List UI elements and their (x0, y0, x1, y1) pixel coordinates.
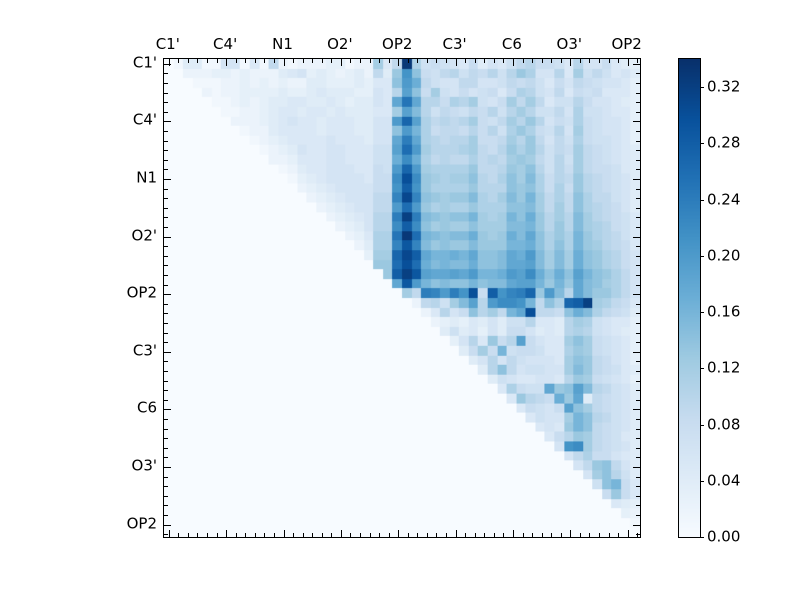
axis-tick-major (164, 409, 171, 410)
axis-tick-minor (350, 533, 351, 537)
xaxis-tick-label: C1' (156, 37, 180, 52)
axis-tick-minor (164, 304, 168, 305)
axis-tick-major (164, 121, 171, 122)
axis-tick-minor (636, 477, 640, 478)
axis-tick-minor (503, 59, 504, 63)
axis-tick-minor (164, 112, 168, 113)
axis-tick-minor (312, 59, 313, 63)
axis-tick-minor (389, 59, 390, 63)
axis-tick-major (226, 59, 227, 66)
axis-tick-minor (523, 59, 524, 63)
colorbar-tick (700, 368, 704, 369)
axis-tick-minor (217, 59, 218, 63)
colorbar-tick-label: 0.20 (707, 248, 740, 263)
axis-tick-minor (636, 189, 640, 190)
axis-tick-major (633, 467, 640, 468)
axis-tick-minor (245, 59, 246, 63)
axis-tick-minor (303, 533, 304, 537)
axis-tick-major (633, 237, 640, 238)
xaxis-tick-label: O3' (557, 37, 582, 52)
colorbar-tick-label: 0.08 (707, 417, 740, 432)
axis-tick-major (284, 59, 285, 66)
axis-tick-minor (636, 169, 640, 170)
colorbar-tick (700, 312, 704, 313)
figure-canvas: C1'C4'N1O2'OP2C3'C6O3'OP2 C1'C4'N1O2'OP2… (0, 0, 800, 600)
axis-tick-minor (389, 533, 390, 537)
axis-tick-minor (484, 59, 485, 63)
axis-tick-minor (636, 112, 640, 113)
axis-tick-minor (589, 59, 590, 63)
axis-tick-minor (446, 533, 447, 537)
axis-tick-minor (408, 59, 409, 63)
axis-tick-major (164, 64, 171, 65)
xaxis-tick-label: N1 (272, 37, 293, 52)
axis-tick-minor (312, 533, 313, 537)
colorbar-tick-label: 0.28 (707, 136, 740, 151)
axis-tick-minor (164, 275, 168, 276)
axis-tick-minor (164, 141, 168, 142)
axis-tick-major (164, 467, 171, 468)
axis-tick-minor (322, 533, 323, 537)
axis-tick-minor (580, 59, 581, 63)
axis-tick-minor (551, 533, 552, 537)
axis-tick-major (164, 352, 171, 353)
axis-tick-minor (164, 371, 168, 372)
xaxis-tick-label: C6 (502, 37, 522, 52)
axis-tick-major (341, 59, 342, 66)
axis-tick-major (628, 530, 629, 537)
axis-tick-minor (427, 59, 428, 63)
axis-tick-minor (636, 208, 640, 209)
axis-tick-minor (236, 533, 237, 537)
axis-tick-minor (293, 59, 294, 63)
axis-tick-minor (255, 59, 256, 63)
axis-tick-minor (636, 438, 640, 439)
axis-tick-minor (164, 160, 168, 161)
yaxis-tick-label: O2' (110, 228, 157, 243)
axis-tick-minor (331, 533, 332, 537)
axis-tick-minor (217, 533, 218, 537)
axis-tick-minor (532, 59, 533, 63)
axis-tick-minor (164, 189, 168, 190)
axis-tick-minor (164, 131, 168, 132)
axis-tick-minor (164, 150, 168, 151)
axis-tick-minor (618, 59, 619, 63)
axis-tick-major (169, 530, 170, 537)
axis-tick-minor (636, 429, 640, 430)
axis-tick-minor (188, 59, 189, 63)
axis-tick-minor (542, 59, 543, 63)
axis-tick-minor (446, 59, 447, 63)
axis-tick-minor (274, 59, 275, 63)
axis-tick-minor (636, 534, 640, 535)
axis-tick-minor (636, 150, 640, 151)
colorbar-tick (700, 143, 704, 144)
axis-tick-minor (417, 533, 418, 537)
axis-tick-major (633, 179, 640, 180)
axis-tick-minor (580, 533, 581, 537)
axis-tick-minor (427, 533, 428, 537)
axis-tick-major (284, 530, 285, 537)
axis-tick-minor (636, 361, 640, 362)
colorbar-tick-label: 0.24 (707, 192, 740, 207)
axis-tick-minor (164, 429, 168, 430)
axis-tick-major (164, 237, 171, 238)
axis-tick-minor (164, 285, 168, 286)
axis-tick-major (633, 352, 640, 353)
axis-tick-minor (561, 533, 562, 537)
axis-tick-minor (636, 198, 640, 199)
axis-tick-major (633, 121, 640, 122)
axis-tick-minor (379, 59, 380, 63)
axis-tick-minor (636, 381, 640, 382)
axis-tick-major (633, 409, 640, 410)
axis-tick-minor (636, 73, 640, 74)
colorbar-tick-label: 0.16 (707, 305, 740, 320)
axis-tick-minor (164, 217, 168, 218)
axis-tick-minor (164, 265, 168, 266)
axis-tick-minor (360, 59, 361, 63)
axis-tick-minor (255, 533, 256, 537)
axis-tick-major (164, 525, 171, 526)
colorbar-tick (700, 87, 704, 88)
axis-tick-minor (197, 59, 198, 63)
axis-tick-minor (561, 59, 562, 63)
colorbar-tick-label: 0.32 (707, 80, 740, 95)
axis-tick-minor (609, 59, 610, 63)
colorbar-tick-label: 0.04 (707, 473, 740, 488)
axis-tick-minor (475, 59, 476, 63)
yaxis-tick-label: OP2 (110, 286, 157, 301)
axis-tick-major (633, 294, 640, 295)
xaxis-tick-label: C3' (443, 37, 467, 52)
axis-tick-minor (484, 533, 485, 537)
axis-tick-minor (164, 448, 168, 449)
axis-tick-minor (164, 361, 168, 362)
colorbar-tick-label: 0.00 (707, 530, 740, 545)
axis-tick-minor (245, 533, 246, 537)
axis-tick-minor (636, 515, 640, 516)
axis-tick-minor (303, 59, 304, 63)
axis-tick-minor (164, 486, 168, 487)
axis-tick-minor (636, 486, 640, 487)
yaxis-tick-label: OP2 (110, 516, 157, 531)
axis-tick-minor (589, 533, 590, 537)
axis-tick-minor (188, 533, 189, 537)
axis-tick-minor (636, 83, 640, 84)
axis-tick-minor (164, 505, 168, 506)
axis-tick-minor (207, 533, 208, 537)
axis-tick-minor (370, 533, 371, 537)
axis-tick-minor (599, 59, 600, 63)
colorbar-tick (700, 200, 704, 201)
axis-tick-minor (178, 533, 179, 537)
axis-tick-major (398, 530, 399, 537)
yaxis-tick-label: C1' (110, 55, 157, 70)
axis-tick-minor (636, 313, 640, 314)
axis-tick-minor (370, 59, 371, 63)
axis-tick-minor (274, 533, 275, 537)
axis-tick-minor (164, 198, 168, 199)
axis-tick-minor (542, 533, 543, 537)
axis-tick-major (633, 64, 640, 65)
axis-tick-minor (636, 457, 640, 458)
axis-tick-minor (436, 533, 437, 537)
axis-tick-minor (494, 533, 495, 537)
axis-tick-minor (618, 533, 619, 537)
axis-tick-minor (417, 59, 418, 63)
axis-tick-minor (523, 533, 524, 537)
axis-tick-minor (503, 533, 504, 537)
axis-tick-major (513, 530, 514, 537)
yaxis-tick-label: N1 (110, 171, 157, 186)
axis-tick-minor (636, 93, 640, 94)
axis-tick-major (456, 59, 457, 66)
xaxis-tick-label: O2' (327, 37, 352, 52)
axis-tick-minor (164, 477, 168, 478)
axis-tick-minor (636, 265, 640, 266)
axis-tick-minor (636, 102, 640, 103)
axis-tick-minor (264, 59, 265, 63)
axis-tick-minor (636, 333, 640, 334)
axis-tick-minor (164, 496, 168, 497)
axis-tick-minor (164, 438, 168, 439)
axis-tick-minor (164, 208, 168, 209)
axis-tick-minor (436, 59, 437, 63)
axis-tick-minor (164, 102, 168, 103)
axis-tick-major (628, 59, 629, 66)
axis-tick-minor (379, 533, 380, 537)
axis-tick-major (456, 530, 457, 537)
axis-tick-minor (599, 533, 600, 537)
xaxis-tick-label: C4' (213, 37, 237, 52)
yaxis-tick-label: C3' (110, 343, 157, 358)
axis-tick-minor (164, 390, 168, 391)
axis-tick-minor (636, 505, 640, 506)
axis-tick-minor (197, 533, 198, 537)
axis-tick-major (398, 59, 399, 66)
axis-tick-minor (164, 419, 168, 420)
axis-tick-minor (164, 381, 168, 382)
xaxis-tick-label: OP2 (611, 37, 641, 52)
colorbar (678, 58, 701, 538)
axis-tick-minor (164, 246, 168, 247)
axis-tick-minor (465, 59, 466, 63)
axis-tick-minor (551, 59, 552, 63)
heatmap-image (164, 59, 640, 537)
axis-tick-minor (636, 419, 640, 420)
axis-tick-major (513, 59, 514, 66)
axis-tick-minor (636, 342, 640, 343)
axis-tick-major (169, 59, 170, 66)
axis-tick-minor (636, 304, 640, 305)
axis-tick-minor (475, 533, 476, 537)
heatmap-axes (163, 58, 641, 538)
axis-tick-minor (636, 496, 640, 497)
yaxis-tick-label: C6 (110, 401, 157, 416)
axis-tick-major (164, 294, 171, 295)
axis-tick-minor (636, 141, 640, 142)
axis-tick-minor (293, 533, 294, 537)
yaxis-tick-label: O3' (110, 459, 157, 474)
axis-tick-minor (178, 59, 179, 63)
axis-tick-minor (264, 533, 265, 537)
axis-tick-minor (637, 59, 638, 63)
axis-tick-minor (636, 371, 640, 372)
axis-tick-minor (164, 342, 168, 343)
colorbar-tick (700, 481, 704, 482)
xaxis-tick-label: OP2 (382, 37, 412, 52)
axis-tick-minor (360, 533, 361, 537)
axis-tick-minor (164, 169, 168, 170)
axis-tick-minor (532, 533, 533, 537)
axis-tick-minor (164, 313, 168, 314)
axis-tick-minor (636, 275, 640, 276)
axis-tick-minor (636, 131, 640, 132)
colorbar-tick (700, 256, 704, 257)
axis-tick-major (341, 530, 342, 537)
axis-tick-minor (164, 227, 168, 228)
axis-tick-major (570, 59, 571, 66)
axis-tick-major (164, 179, 171, 180)
axis-tick-minor (164, 323, 168, 324)
axis-tick-minor (164, 457, 168, 458)
axis-tick-minor (609, 533, 610, 537)
axis-tick-minor (350, 59, 351, 63)
axis-tick-minor (164, 256, 168, 257)
axis-tick-minor (164, 515, 168, 516)
axis-tick-minor (636, 246, 640, 247)
axis-tick-minor (164, 93, 168, 94)
axis-tick-minor (636, 227, 640, 228)
colorbar-tick (700, 425, 704, 426)
colorbar-tick-label: 0.12 (707, 361, 740, 376)
axis-tick-minor (164, 83, 168, 84)
axis-tick-minor (331, 59, 332, 63)
axis-tick-minor (465, 533, 466, 537)
axis-tick-minor (636, 448, 640, 449)
axis-tick-minor (636, 160, 640, 161)
axis-tick-minor (164, 534, 168, 535)
yaxis-tick-label: C4' (110, 113, 157, 128)
axis-tick-minor (494, 59, 495, 63)
axis-tick-minor (636, 400, 640, 401)
axis-tick-minor (408, 533, 409, 537)
axis-tick-minor (636, 390, 640, 391)
axis-tick-minor (236, 59, 237, 63)
axis-tick-minor (207, 59, 208, 63)
axis-tick-minor (636, 256, 640, 257)
axis-tick-minor (636, 285, 640, 286)
axis-tick-minor (322, 59, 323, 63)
axis-tick-minor (164, 400, 168, 401)
colorbar-tick (700, 537, 704, 538)
axis-tick-major (633, 525, 640, 526)
axis-tick-minor (636, 217, 640, 218)
colorbar-gradient (679, 59, 700, 537)
axis-tick-minor (164, 333, 168, 334)
axis-tick-major (226, 530, 227, 537)
axis-tick-major (570, 530, 571, 537)
axis-tick-minor (164, 73, 168, 74)
axis-tick-minor (636, 323, 640, 324)
